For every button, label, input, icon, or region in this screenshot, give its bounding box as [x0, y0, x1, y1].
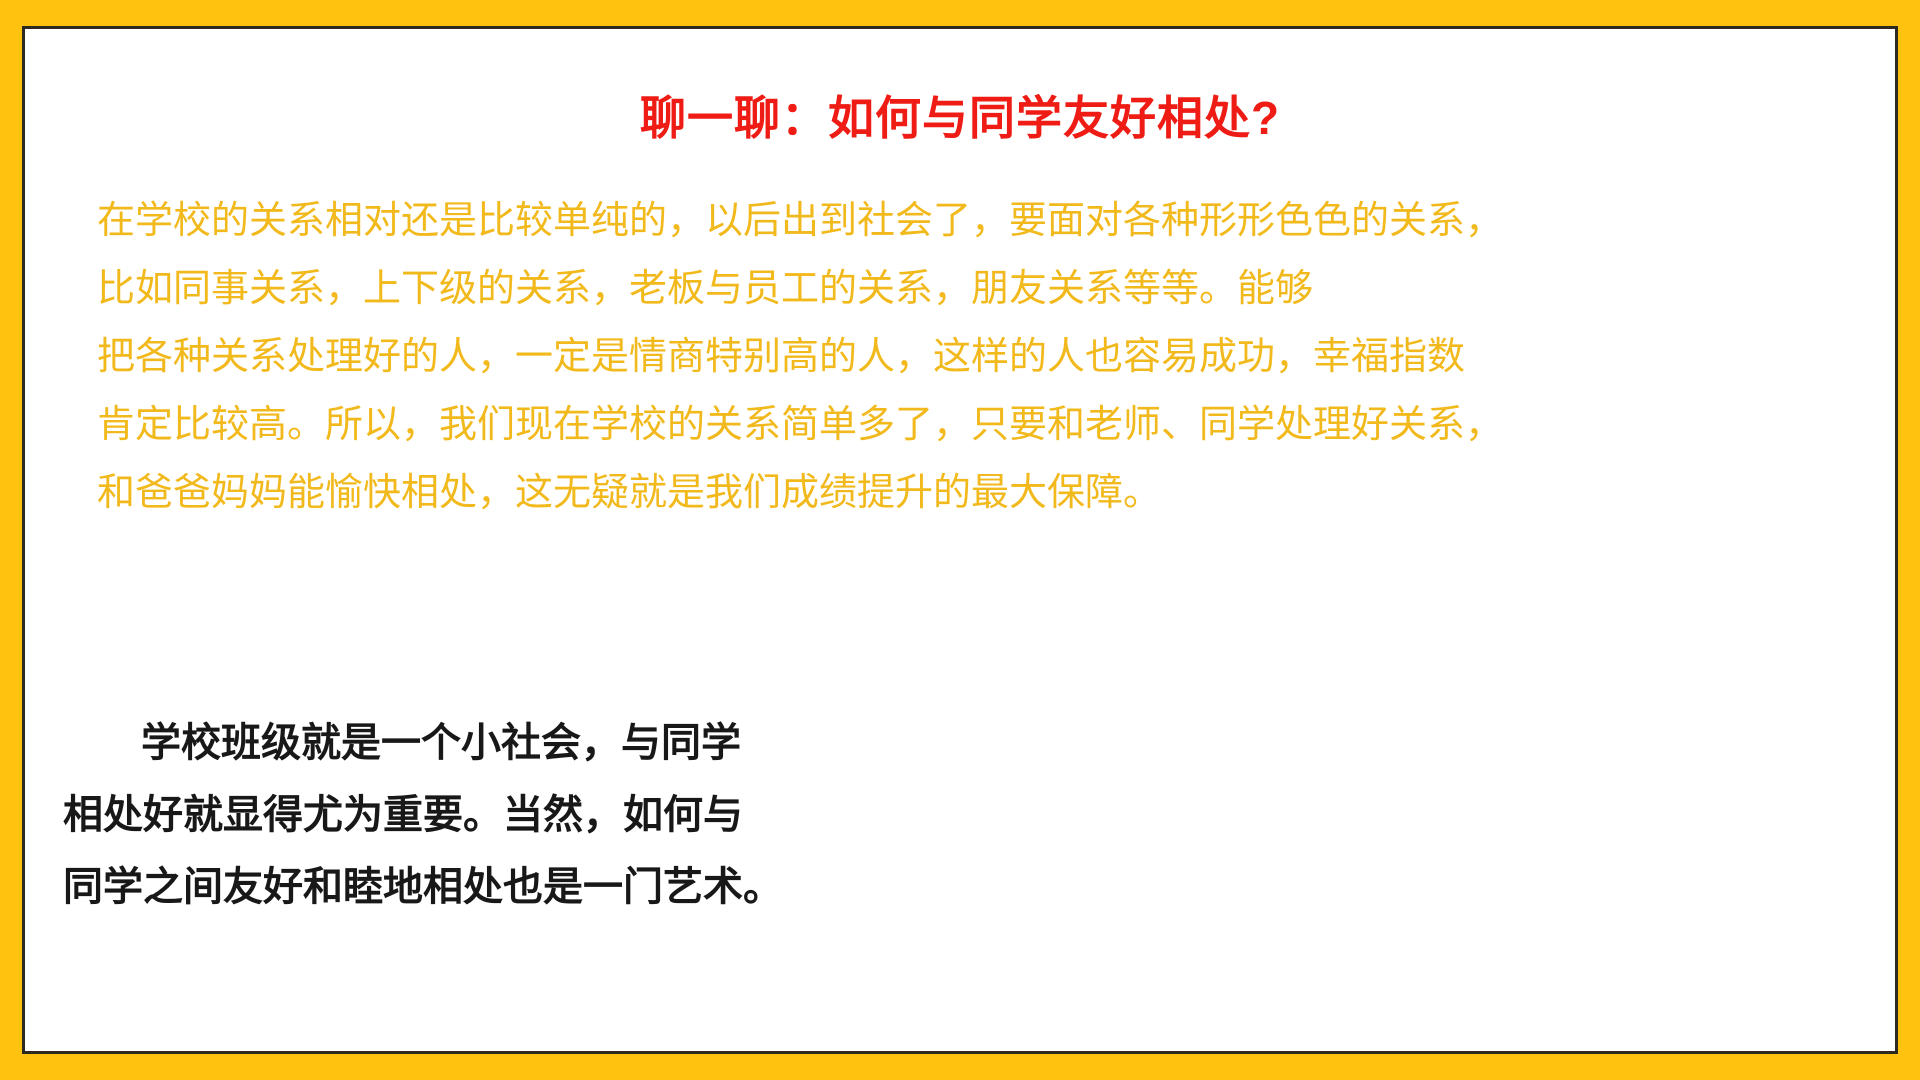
intro-paragraph-line: 在学校的关系相对还是比较单纯的，以后出到社会了，要面对各种形形色色的关系，	[97, 187, 1849, 255]
slide-inner-frame: 聊一聊：如何与同学友好相处? 在学校的关系相对还是比较单纯的，以后出到社会了，要…	[22, 26, 1898, 1054]
intro-paragraph-line: 把各种关系处理好的人，一定是情商特别高的人，这样的人也容易成功，幸福指数	[97, 323, 1849, 391]
intro-paragraph-line: 比如同事关系，上下级的关系，老板与员工的关系，朋友关系等等。能够	[97, 255, 1849, 323]
slide-root: 聊一聊：如何与同学友好相处? 在学校的关系相对还是比较单纯的，以后出到社会了，要…	[0, 0, 1920, 1080]
summary-paragraph-line: 同学之间友好和睦地相处也是一门艺术。	[63, 851, 783, 923]
summary-paragraph-line: 相处好就显得尤为重要。当然，如何与	[63, 779, 783, 851]
intro-paragraph-line: 肯定比较高。所以，我们现在学校的关系简单多了，只要和老师、同学处理好关系，	[97, 391, 1849, 459]
page-title: 聊一聊：如何与同学友好相处?	[25, 93, 1895, 144]
summary-paragraph: 学校班级就是一个小社会，与同学 相处好就显得尤为重要。当然，如何与 同学之间友好…	[63, 707, 783, 923]
slide-content: 聊一聊：如何与同学友好相处? 在学校的关系相对还是比较单纯的，以后出到社会了，要…	[25, 29, 1895, 1051]
summary-paragraph-line: 学校班级就是一个小社会，与同学	[63, 707, 783, 779]
intro-paragraph-line: 和爸爸妈妈能愉快相处，这无疑就是我们成绩提升的最大保障。	[97, 459, 1849, 527]
intro-paragraph: 在学校的关系相对还是比较单纯的，以后出到社会了，要面对各种形形色色的关系， 比如…	[97, 187, 1849, 527]
